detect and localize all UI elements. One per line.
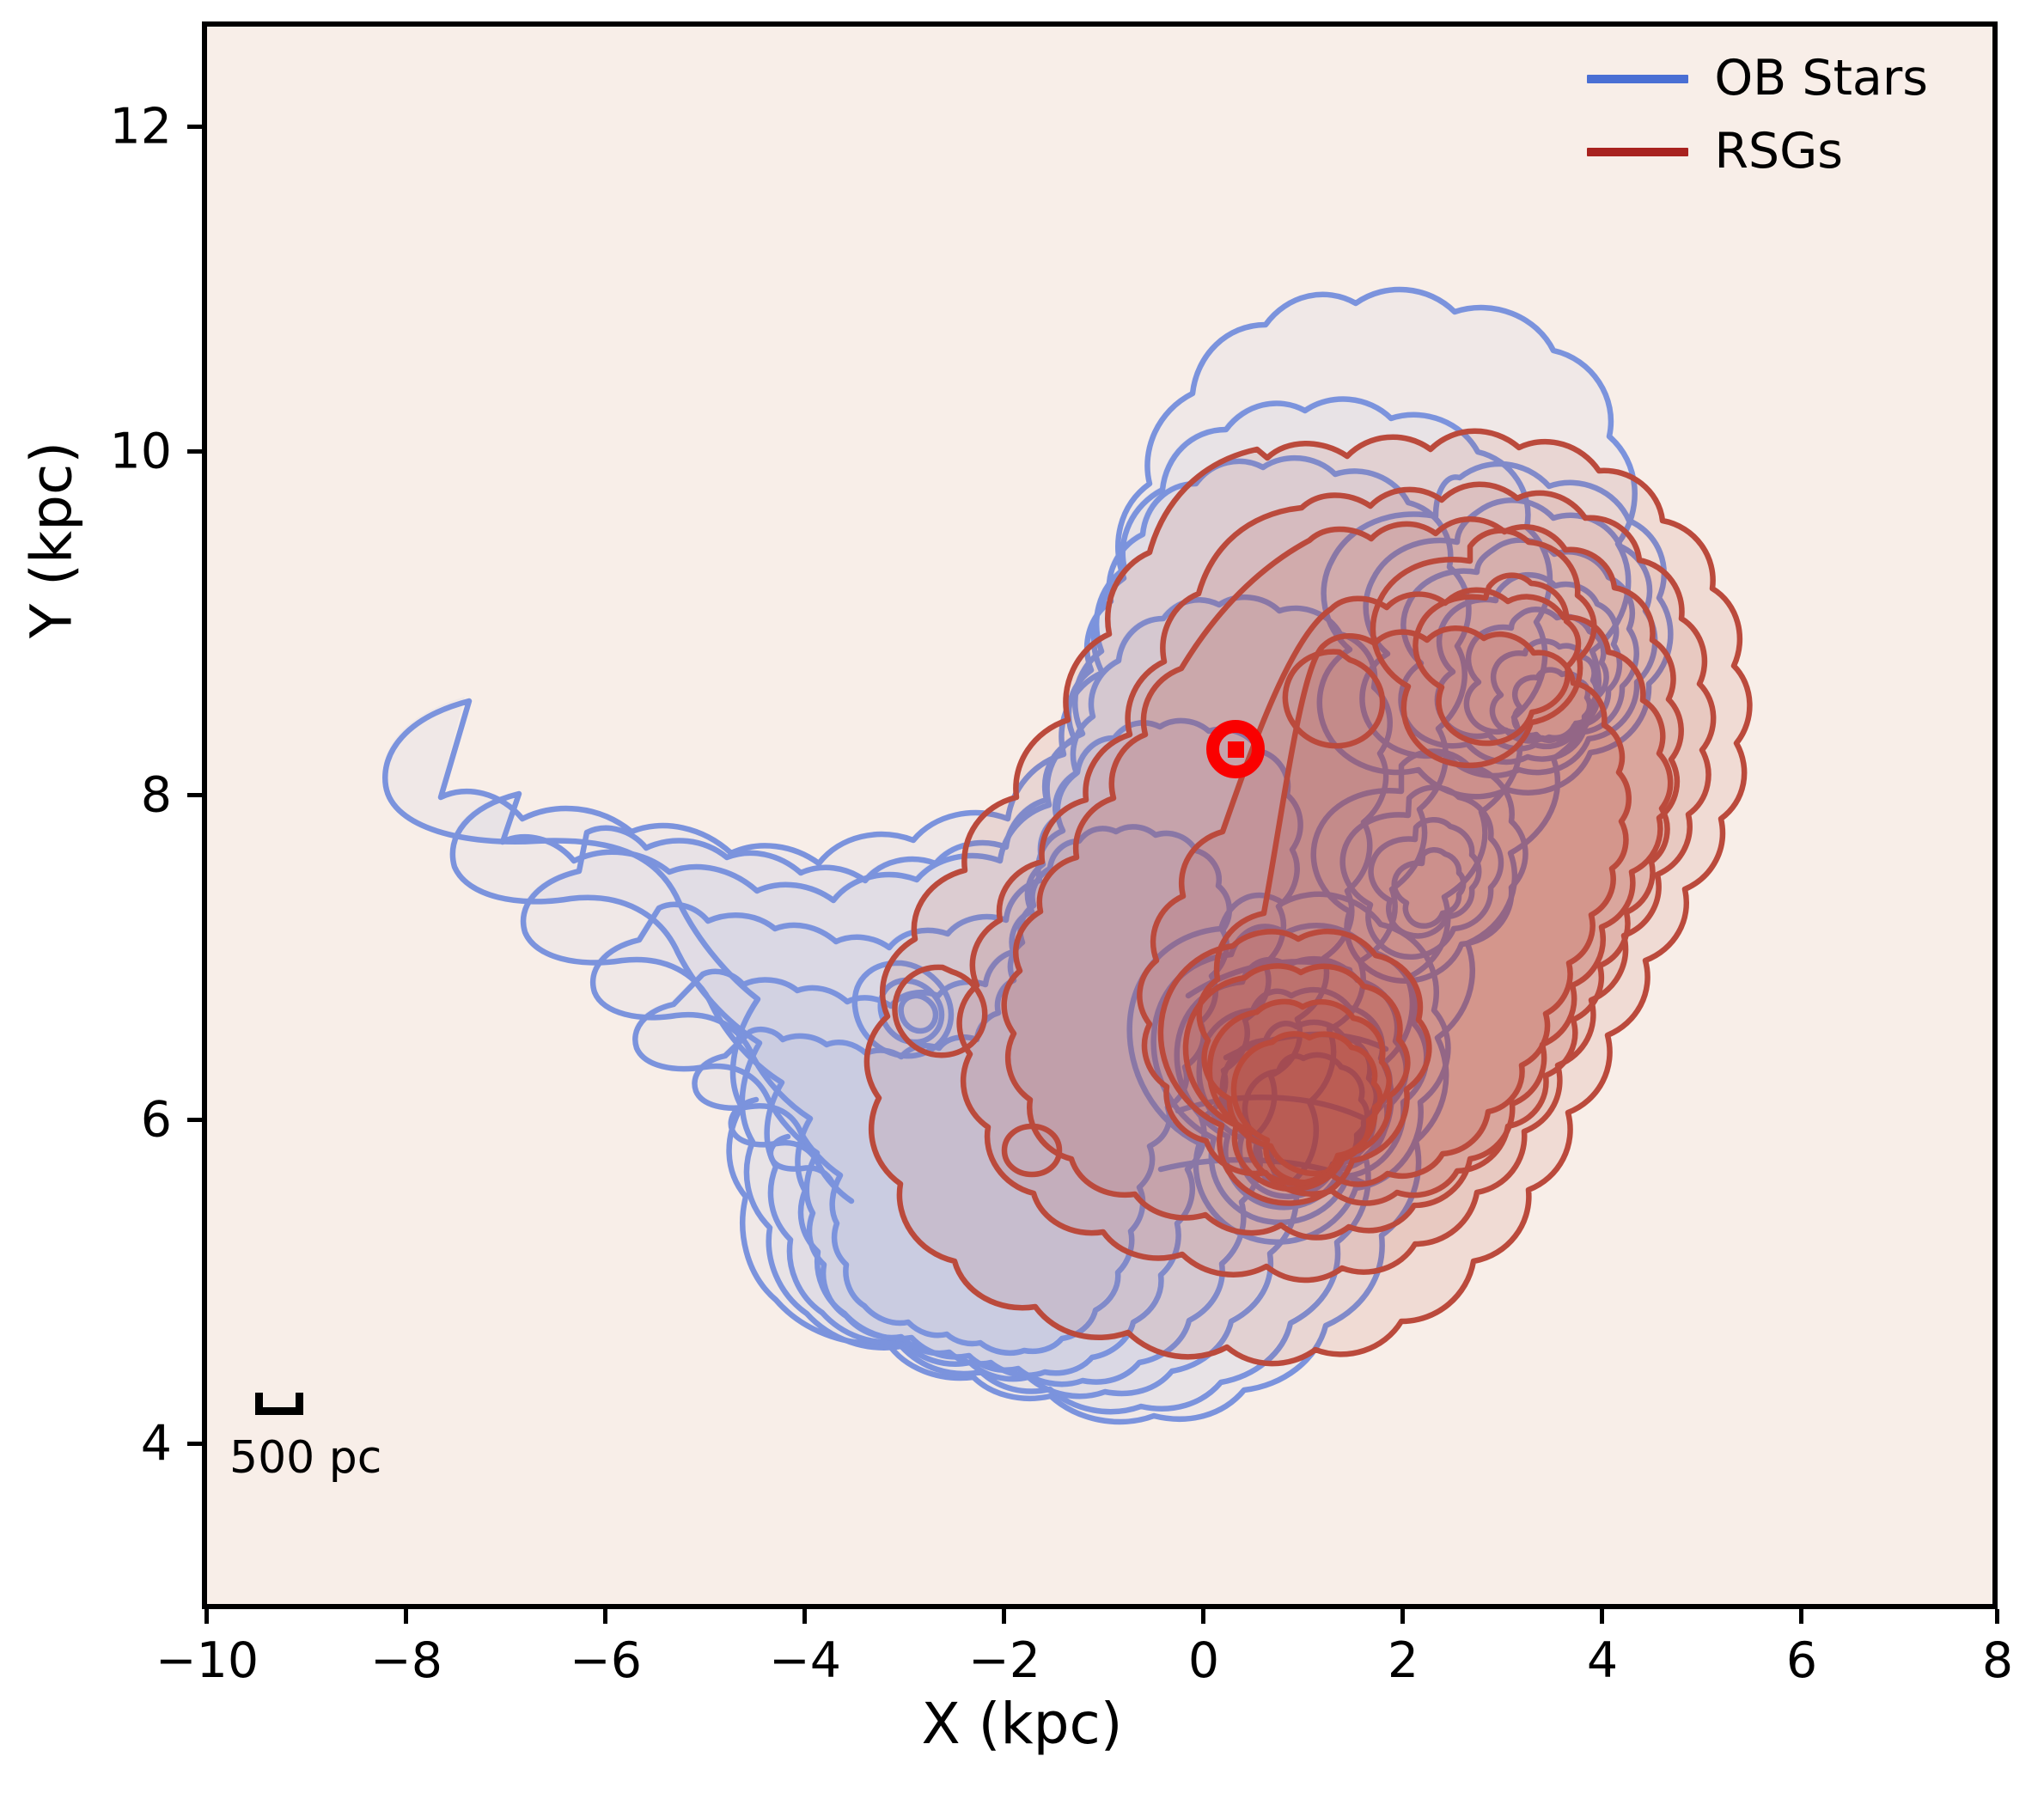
legend-item-ob-stars: OB Stars <box>1587 54 1928 103</box>
x-tick-8 <box>1799 1609 1803 1624</box>
contour-canvas <box>207 27 1992 1604</box>
x-tick-label-9: 8 <box>1982 1637 2013 1686</box>
x-tick-label-8: 6 <box>1786 1637 1817 1686</box>
y-tick-label-2: 8 <box>86 771 172 820</box>
scalebar-label: 500 pc <box>229 1432 381 1484</box>
plot-area: 500 pc OB Stars RSGs <box>202 21 1998 1609</box>
y-tick-0 <box>187 1442 202 1446</box>
x-tick-6 <box>1400 1609 1405 1624</box>
legend: OB Stars RSGs <box>1587 54 1928 176</box>
y-tick-2 <box>187 793 202 797</box>
y-tick-label-4: 12 <box>58 103 172 152</box>
legend-label-rsgs: RSGs <box>1714 127 1843 176</box>
x-tick-4 <box>1002 1609 1006 1624</box>
sun-position-marker <box>1206 720 1265 778</box>
legend-swatch-ob-stars <box>1587 75 1688 83</box>
contour-figure: 500 pc OB Stars RSGs −10 −8 −6 −4 −2 0 2… <box>0 0 2044 1799</box>
y-axis-label-wrapper: Y (kpc) <box>19 197 85 884</box>
x-axis-label: X (kpc) <box>0 1691 2044 1757</box>
y-tick-1 <box>187 1118 202 1122</box>
x-tick-1 <box>404 1609 408 1624</box>
x-tick-label-6: 2 <box>1388 1637 1419 1686</box>
x-tick-5 <box>1201 1609 1205 1624</box>
y-axis-label: Y (kpc) <box>19 442 85 638</box>
y-tick-label-0: 4 <box>86 1420 172 1469</box>
legend-item-rsgs: RSGs <box>1587 127 1843 176</box>
scale-bar: 500 pc <box>229 1393 381 1484</box>
legend-label-ob-stars: OB Stars <box>1714 54 1928 103</box>
y-tick-4 <box>187 125 202 129</box>
y-tick-label-1: 6 <box>86 1096 172 1145</box>
x-tick-label-4: −2 <box>968 1637 1040 1686</box>
x-tick-label-3: −4 <box>769 1637 841 1686</box>
x-tick-label-7: 4 <box>1587 1637 1618 1686</box>
x-tick-0 <box>204 1609 209 1624</box>
x-tick-7 <box>1600 1609 1604 1624</box>
x-tick-2 <box>603 1609 607 1624</box>
x-tick-9 <box>1995 1609 1999 1624</box>
x-tick-label-2: −6 <box>570 1637 642 1686</box>
x-tick-label-5: 0 <box>1188 1637 1219 1686</box>
sun-center-dot <box>1228 741 1244 758</box>
x-tick-3 <box>802 1609 807 1624</box>
y-tick-3 <box>187 449 202 454</box>
scalebar-bracket-icon <box>255 1393 303 1415</box>
x-tick-label-0: −10 <box>156 1637 259 1686</box>
legend-swatch-rsgs <box>1587 148 1688 156</box>
rsgs-fill-layer <box>865 430 1748 1362</box>
x-tick-label-1: −8 <box>370 1637 442 1686</box>
